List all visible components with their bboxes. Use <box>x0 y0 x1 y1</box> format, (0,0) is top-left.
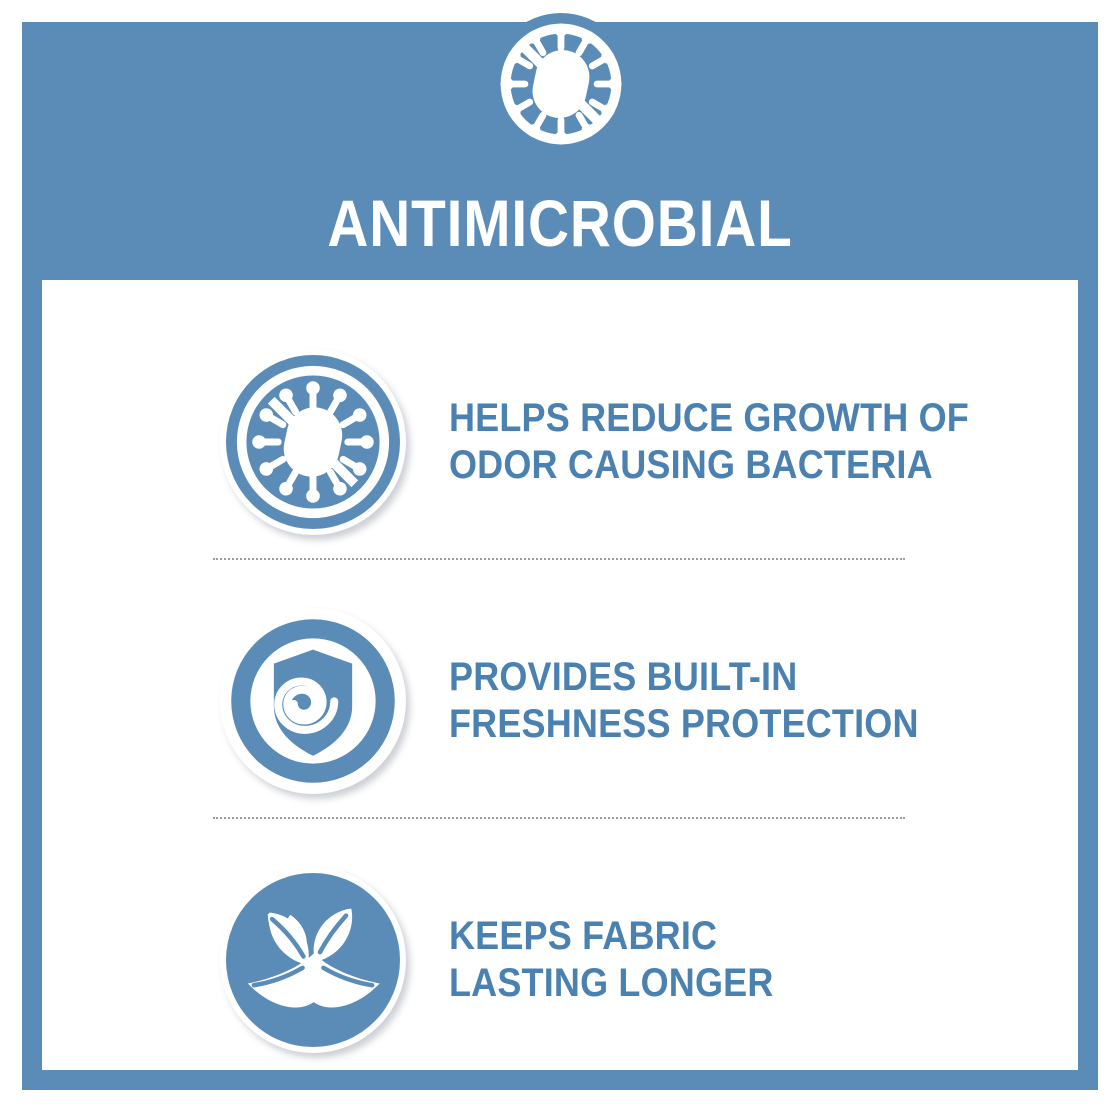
divider <box>213 817 905 819</box>
feature-text: PROVIDES BUILT-IN FRESHNESS PROTECTION <box>449 654 1015 748</box>
page-title: ANTIMICROBIAL <box>97 190 1022 256</box>
feature-text-line-1: KEEPS FABRIC <box>449 913 1015 960</box>
feature-row: HELPS REDUCE GROWTH OF ODOR CAUSING BACT… <box>42 324 1078 560</box>
feature-row: KEEPS FABRIC LASTING LONGER <box>42 842 1078 1078</box>
feature-row: PROVIDES BUILT-IN FRESHNESS PROTECTION <box>42 583 1078 819</box>
feature-text: KEEPS FABRIC LASTING LONGER <box>449 913 1015 1007</box>
no-germ-icon <box>220 349 406 535</box>
shield-swirl-icon <box>220 608 406 794</box>
leaf-sprout-icon <box>220 867 406 1053</box>
feature-text: HELPS REDUCE GROWTH OF ODOR CAUSING BACT… <box>449 395 1015 489</box>
antimicrobial-infographic: ANTIMICROBIAL <box>0 0 1120 1120</box>
feature-text-line-2: FRESHNESS PROTECTION <box>449 701 1015 748</box>
feature-text-line-2: ODOR CAUSING BACTERIA <box>449 442 1015 489</box>
feature-text-line-1: HELPS REDUCE GROWTH OF <box>449 395 1015 442</box>
feature-text-line-1: PROVIDES BUILT-IN <box>449 654 1015 701</box>
content-panel: HELPS REDUCE GROWTH OF ODOR CAUSING BACT… <box>42 280 1078 1070</box>
divider <box>213 558 905 560</box>
feature-list: HELPS REDUCE GROWTH OF ODOR CAUSING BACT… <box>42 280 1078 1070</box>
no-germ-icon <box>490 8 632 160</box>
feature-text-line-2: LASTING LONGER <box>449 960 1015 1007</box>
